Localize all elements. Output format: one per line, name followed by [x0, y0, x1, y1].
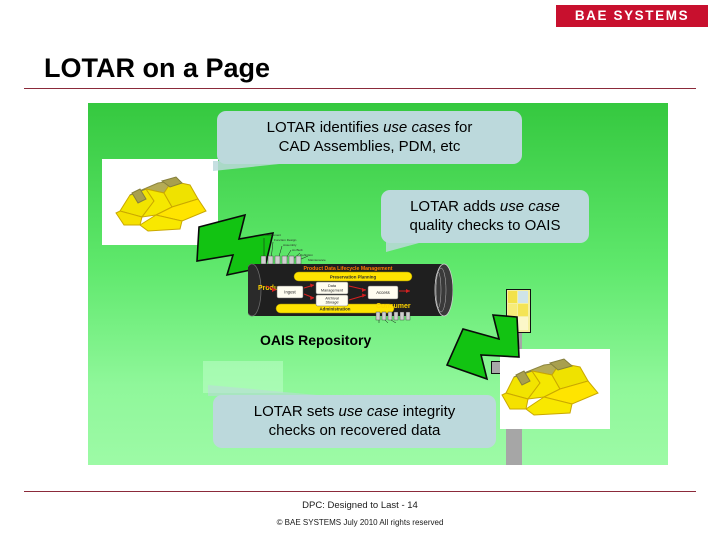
- callout-quality-checks: LOTAR adds use case quality checks to OA…: [381, 190, 589, 243]
- callout-usecases-emphasis: use cases: [383, 119, 451, 136]
- callout-quality-emphasis: use case: [500, 198, 560, 215]
- svg-text:Component: Component: [265, 233, 281, 237]
- title-divider: [24, 88, 696, 89]
- svg-text:Function Design: Function Design: [274, 238, 297, 242]
- svg-text:Consumer: Consumer: [376, 303, 411, 310]
- callout-quality-line1: LOTAR adds use case: [410, 198, 560, 215]
- bae-systems-logo: BAE SYSTEMS: [556, 5, 708, 27]
- callout-integrity-checks: LOTAR sets use case integrity checks on …: [213, 395, 496, 448]
- svg-text:Ingest: Ingest: [284, 290, 296, 295]
- footer-divider: [24, 491, 696, 492]
- brand-logo-text: BAE SYSTEMS: [575, 9, 689, 23]
- svg-text:Storage: Storage: [325, 301, 338, 305]
- callout-identifies-use-cases: LOTAR identifies use cases for CAD Assem…: [217, 111, 522, 164]
- arrow-repository-to-recovered: [433, 311, 523, 391]
- footer-deck-title: DPC: Designed to Last - 14: [0, 500, 720, 511]
- svg-text:Maintenance: Maintenance: [308, 258, 326, 262]
- page-title: LOTAR on a Page: [44, 53, 270, 84]
- callout-usecases-line2: CAD Assemblies, PDM, etc: [279, 138, 461, 155]
- svg-text:Data: Data: [328, 284, 337, 288]
- callout-integrity-emphasis: use case: [339, 403, 399, 420]
- svg-text:Assembly: Assembly: [283, 243, 297, 247]
- slide-diagram-panel: Component Function Design Assembly As Bu…: [88, 103, 668, 465]
- svg-text:Definition: Definition: [300, 253, 313, 257]
- oais-repository-label: OAIS Repository: [260, 332, 371, 348]
- svg-text:Access: Access: [376, 290, 390, 295]
- svg-text:Product Data Lifecycle Managem: Product Data Lifecycle Management: [303, 266, 392, 272]
- callout-integrity-line2: checks on recovered data: [269, 422, 441, 439]
- svg-text:Management: Management: [321, 289, 344, 293]
- footer-copyright: © BAE SYSTEMS July 2010 All rights reser…: [0, 518, 720, 527]
- callout-integrity-line1: LOTAR sets use case integrity: [254, 403, 456, 420]
- svg-text:Preservation Planning: Preservation Planning: [330, 275, 377, 280]
- callout-quality-line2: quality checks to OAIS: [410, 217, 561, 234]
- svg-text:As Built: As Built: [292, 248, 303, 252]
- svg-text:Administration: Administration: [320, 307, 351, 312]
- callout-usecases-line1: LOTAR identifies use cases for: [267, 119, 473, 136]
